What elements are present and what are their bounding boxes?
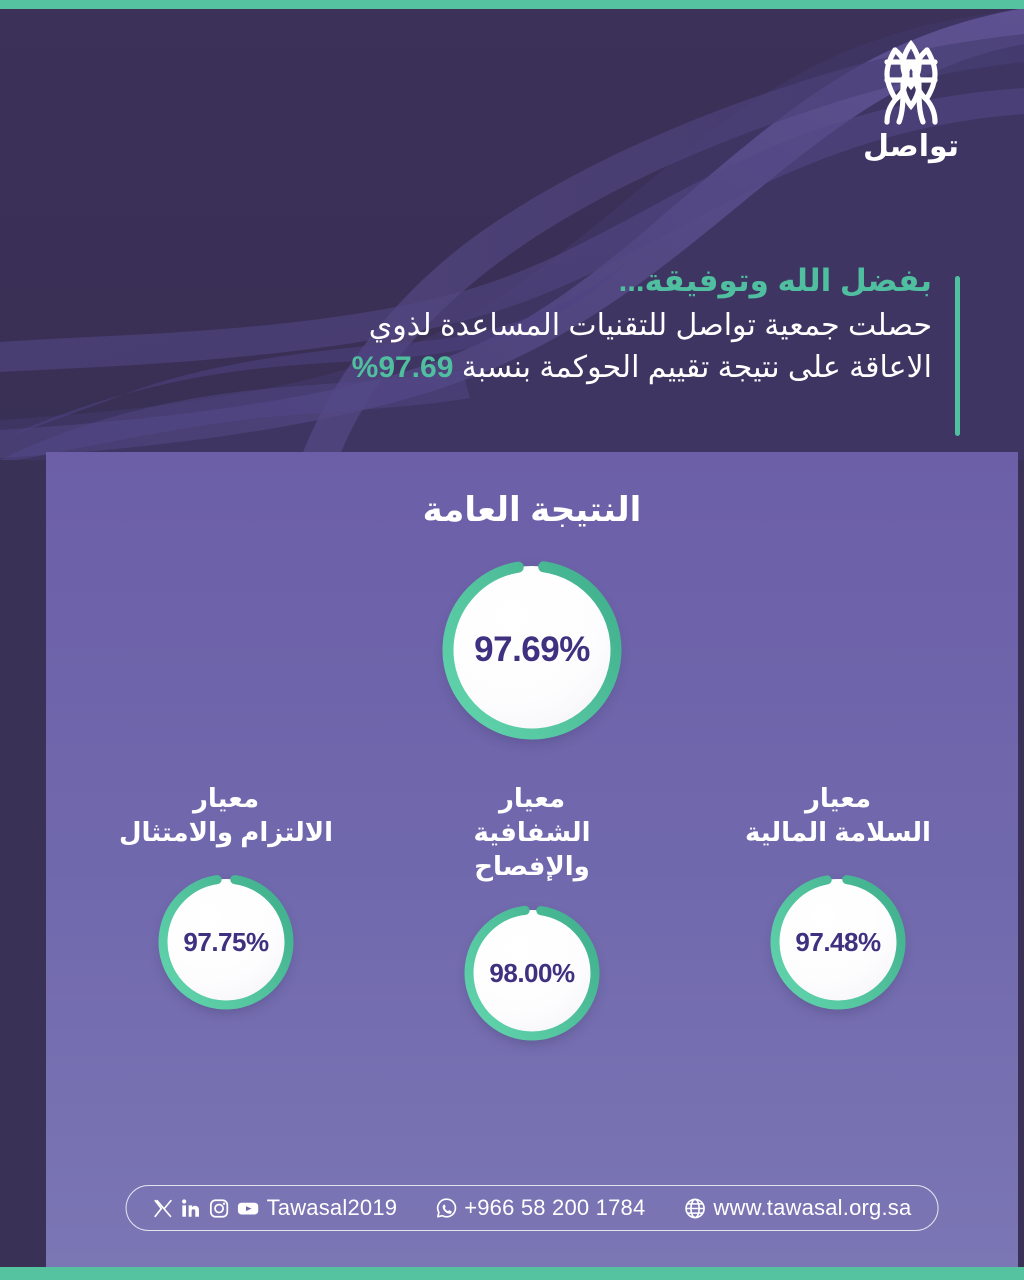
website-group[interactable]: www.tawasal.org.sa [683,1195,911,1221]
whatsapp-icon[interactable] [435,1197,457,1219]
gauge-commitment-compliance: 97.75% [152,868,300,1016]
metric-label-line2: الالتزام والامتثال [108,816,344,850]
gauge-value-commitment-compliance: 97.75% [183,927,268,958]
phone-group[interactable]: +966 58 200 1784 [435,1195,645,1221]
x-twitter-icon[interactable] [153,1198,174,1219]
headline-body-text: حصلت جمعية تواصل للتقنيات المساعدة لذوي … [369,309,932,385]
instagram-icon[interactable] [209,1198,230,1219]
tawasal-knot-logo-icon [861,38,961,126]
social-handle-text: Tawasal2019 [267,1195,398,1221]
linkedin-icon[interactable] [181,1198,202,1219]
gauge-value-financial-safety: 97.48% [795,927,880,958]
metric-gauge-wrap: 97.48% [720,868,956,1016]
youtube-icon[interactable] [237,1198,260,1219]
metric-label-line2: السلامة المالية [720,816,956,850]
gauge-financial-safety: 97.48% [764,868,912,1016]
metric-label-line1: معيار [720,782,956,816]
gauge-overall-result: 97.69% [434,552,630,748]
metric-label-line2: الشفافية والإفصاح [414,816,650,884]
globe-icon[interactable] [683,1197,706,1220]
social-handle-group[interactable]: Tawasal2019 [153,1195,398,1221]
headline-percent: 97.69% [352,351,454,384]
gauge-value-overall: 97.69% [474,630,590,670]
bottom-accent-stripe [0,1267,1024,1280]
headline-block: بفضل الله وتوفيقة... حصلت جمعية تواصل لل… [320,262,960,390]
gauge-value-transparency-disclosure: 98.00% [489,958,574,989]
headline-kicker: بفضل الله وتوفيقة... [320,262,932,301]
metric-cell-commitment-compliance: معيار الالتزام والامتثال [108,782,344,1047]
gauge-transparency-disclosure: 98.00% [458,899,606,1047]
logo-wordmark: تواصل [846,132,976,162]
website-text: www.tawasal.org.sa [713,1195,911,1221]
panel-title: النتيجة العامة [46,490,1018,530]
contact-bar: Tawasal2019 +966 58 200 1784 www.tawasal… [126,1185,939,1231]
metric-cell-financial-safety: معيار السلامة المالية [720,782,956,1047]
top-accent-stripe [0,0,1024,9]
metric-gauge-wrap: 98.00% [414,899,650,1047]
metric-gauge-wrap: 97.75% [108,868,344,1016]
metric-label-commitment-compliance: معيار الالتزام والامتثال [108,782,344,852]
headline-body: حصلت جمعية تواصل للتقنيات المساعدة لذوي … [320,305,932,390]
metric-label-financial-safety: معيار السلامة المالية [720,782,956,852]
brand-logo: تواصل [846,38,976,173]
headline-accent-rule [955,276,960,436]
metric-label-line1: معيار [414,782,650,816]
phone-number-text: +966 58 200 1784 [464,1195,645,1221]
metric-cell-transparency-disclosure: معيار الشفافية والإفصاح [414,782,650,1047]
metric-label-transparency-disclosure: معيار الشفافية والإفصاح [414,782,650,883]
results-panel: النتيجة العامة 97.69% [46,452,1018,1267]
sub-gauges-row: معيار السلامة المالية [46,782,1018,1047]
infographic-stage: تواصل بفضل الله وتوفيقة... حصلت جمعية تو… [0,0,1024,1280]
main-gauge-row: 97.69% [46,552,1018,748]
metric-label-line1: معيار [108,782,344,816]
